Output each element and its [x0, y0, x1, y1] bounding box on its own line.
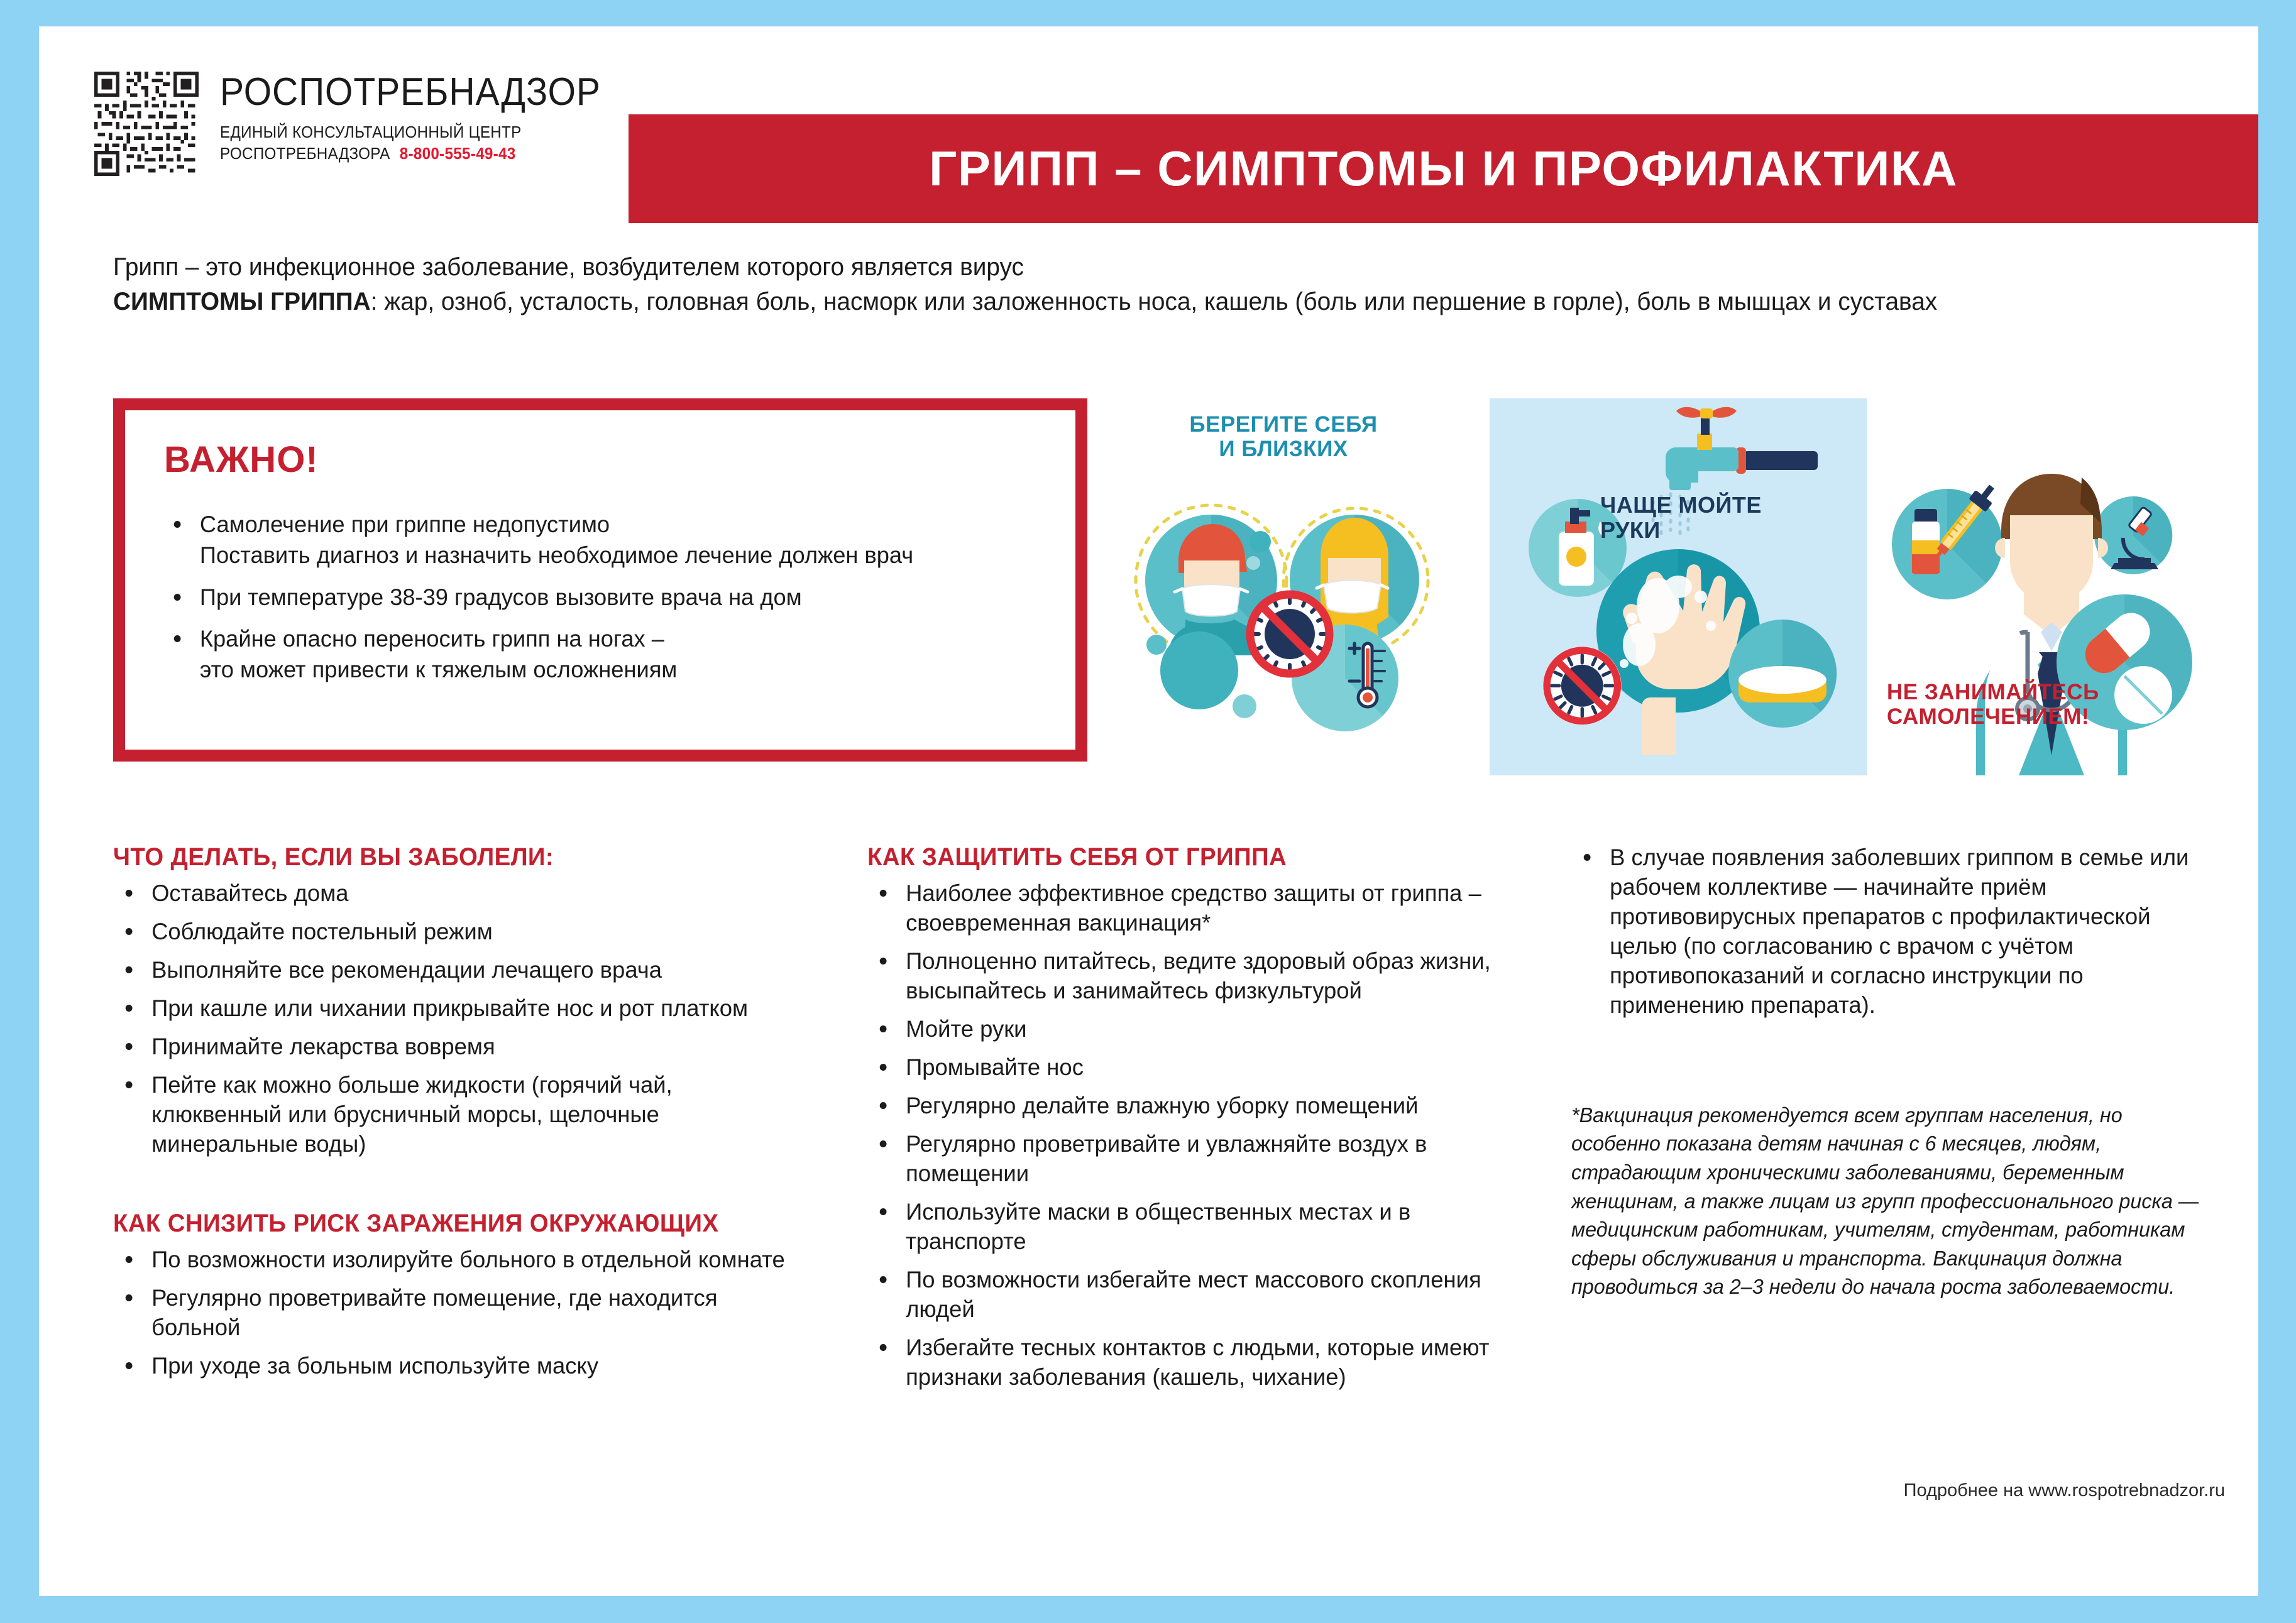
- consult-center-line2: РОСПОТРЕБНАДЗОРА: [220, 144, 390, 165]
- list-item: Полноценно питайтесь, ведите здоровый об…: [867, 947, 1536, 1006]
- list-item: При кашле или чихании прикрывайте нос и …: [113, 994, 794, 1024]
- handwashing-graphic: [1490, 398, 1867, 775]
- list-item: Пейте как можно больше жидкости (горячий…: [113, 1071, 794, 1159]
- list-item: Промывайте нос: [867, 1053, 1536, 1083]
- list-item: Соблюдайте постельный режим: [113, 917, 794, 947]
- list-item: Мойте руки: [867, 1015, 1536, 1044]
- poster-header: РОСПОТРЕБНАДЗОР ЕДИНЫЙ КОНСУЛЬТАЦИОННЫЙ …: [39, 26, 2258, 227]
- wash-hands-illustration: ЧАЩЕ МОЙТЕРУКИ: [1490, 398, 1867, 775]
- hotline-phone[interactable]: 8-800-555-49-43: [400, 144, 516, 165]
- important-list: Самолечение при гриппе недопустимоПостав…: [165, 510, 1075, 686]
- caption-wash-hands: ЧАЩЕ МОЙТЕРУКИ: [1600, 493, 1814, 544]
- consult-center-line: ЕДИНЫЙ КОНСУЛЬТАЦИОННЫЙ ЦЕНТР: [220, 123, 613, 144]
- list-outbreak: В случае появления заболевших гриппом в …: [1571, 843, 2225, 1020]
- qr-code-icon: [94, 72, 199, 176]
- poster-canvas: РОСПОТРЕБНАДЗОР ЕДИНЫЙ КОНСУЛЬТАЦИОННЫЙ …: [39, 26, 2258, 1596]
- list-item: Самолечение при гриппе недопустимоПостав…: [165, 510, 1057, 571]
- important-title: ВАЖНО!: [164, 439, 1075, 481]
- caption-no-self-medication: НЕ ЗАНИМАЙТЕСЬСАМОЛЕЧЕНИЕМ!: [1887, 680, 2151, 729]
- important-callout-box: ВАЖНО! Самолечение при гриппе недопустим…: [113, 398, 1087, 762]
- list-item: При температуре 38-39 градусов вызовите …: [165, 582, 1057, 613]
- no-virus-icon: [1543, 647, 1622, 725]
- list-item: Оставайтесь дома: [113, 879, 794, 909]
- logo-text-block: РОСПОТРЕБНАДЗОР ЕДИНЫЙ КОНСУЛЬТАЦИОННЫЙ …: [220, 72, 634, 165]
- column-outbreak-and-footnote: В случае появления заболевших гриппом в …: [1571, 843, 2225, 1301]
- website-link[interactable]: Подробнее на www.rospotrebnadzor.ru: [1904, 1480, 2225, 1501]
- faucet-icon: [1666, 407, 1818, 490]
- list-item: Регулярно проветривайте и увлажняйте воз…: [867, 1130, 1536, 1189]
- organization-subtitle: ЕДИНЫЙ КОНСУЛЬТАЦИОННЫЙ ЦЕНТР РОСПОТРЕБН…: [220, 123, 613, 165]
- list-item: В случае появления заболевших гриппом в …: [1571, 843, 2215, 1020]
- symptoms-label: СИМПТОМЫ ГРИППА: [113, 288, 371, 315]
- list-item: По возможности избегайте мест массового …: [867, 1265, 1536, 1325]
- organization-name: РОСПОТРЕБНАДЗОР: [220, 73, 601, 112]
- column-if-you-are-sick: ЧТО ДЕЛАТЬ, ЕСЛИ ВЫ ЗАБОЛЕЛИ: Оставайтес…: [113, 843, 805, 1390]
- soap-bar-icon: [1738, 666, 1826, 702]
- see-doctor-illustration: НЕ ЗАНИМАЙТЕСЬСАМОЛЕЧЕНИЕМ!: [1882, 398, 2220, 775]
- list-item: Выполняйте все рекомендации лечащего вра…: [113, 956, 794, 985]
- vaccination-footnote: *Вакцинация рекомендуется всем группам н…: [1571, 1101, 2212, 1301]
- column-how-to-protect: КАК ЗАЩИТИТЬ СЕБЯ ОТ ГРИППА Наиболее эфф…: [867, 843, 1546, 1401]
- list-item: Избегайте тесных контактов с людьми, кот…: [867, 1333, 1536, 1392]
- list-item: Наиболее эффективное средство защиты от …: [867, 879, 1536, 938]
- protect-yourself-illustration: БЕРЕГИТЕ СЕБЯИ БЛИЗКИХ: [1107, 398, 1459, 775]
- list-sick-actions: Оставайтесь дома Соблюдайте постельный р…: [113, 879, 805, 1159]
- list-item: По возможности изолируйте больного в отд…: [113, 1245, 794, 1275]
- intro-block: Грипп – это инфекционное заболевание, во…: [113, 250, 2206, 319]
- section-heading-reduce-risk: КАК СНИЗИТЬ РИСК ЗАРАЖЕНИЯ ОКРУЖАЮЩИХ: [113, 1210, 777, 1238]
- illustration-strip: БЕРЕГИТЕ СЕБЯИ БЛИЗКИХ: [1107, 398, 2220, 775]
- section-heading-sick: ЧТО ДЕЛАТЬ, ЕСЛИ ВЫ ЗАБОЛЕЛИ:: [113, 843, 777, 872]
- section-heading-protect: КАК ЗАЩИТИТЬ СЕБЯ ОТ ГРИППА: [867, 843, 1519, 872]
- symptoms-text: : жар, озноб, усталость, головная боль, …: [371, 288, 1938, 315]
- title-banner: ГРИПП – СИМПТОМЫ И ПРОФИЛАКТИКА: [629, 114, 2258, 223]
- page-title: ГРИПП – СИМПТОМЫ И ПРОФИЛАКТИКА: [929, 140, 1958, 197]
- list-item: Регулярно проветривайте помещение, где н…: [113, 1284, 794, 1343]
- list-protect-measures: Наиболее эффективное средство защиты от …: [867, 879, 1546, 1392]
- list-item: Крайне опасно переносить грипп на ногах …: [165, 624, 1057, 686]
- list-item: Используйте маски в общественных местах …: [867, 1198, 1536, 1257]
- caption-protect-yourself: БЕРЕГИТЕ СЕБЯИ БЛИЗКИХ: [1107, 412, 1459, 461]
- vaccine-vial-icon: [1912, 509, 1940, 574]
- list-reduce-risk: По возможности изолируйте больного в отд…: [113, 1245, 805, 1381]
- rospotrebnadzor-logo-block: РОСПОТРЕБНАДЗОР ЕДИНЫЙ КОНСУЛЬТАЦИОННЫЙ …: [94, 72, 634, 176]
- intro-symptoms: СИМПТОМЫ ГРИППА: жар, озноб, усталость, …: [113, 285, 2143, 319]
- list-item: Принимайте лекарства вовремя: [113, 1032, 794, 1062]
- list-item: Регулярно делайте влажную уборку помещен…: [867, 1091, 1536, 1121]
- list-item: При уходе за больным используйте маску: [113, 1352, 794, 1381]
- intro-definition: Грипп – это инфекционное заболевание, во…: [113, 250, 2143, 285]
